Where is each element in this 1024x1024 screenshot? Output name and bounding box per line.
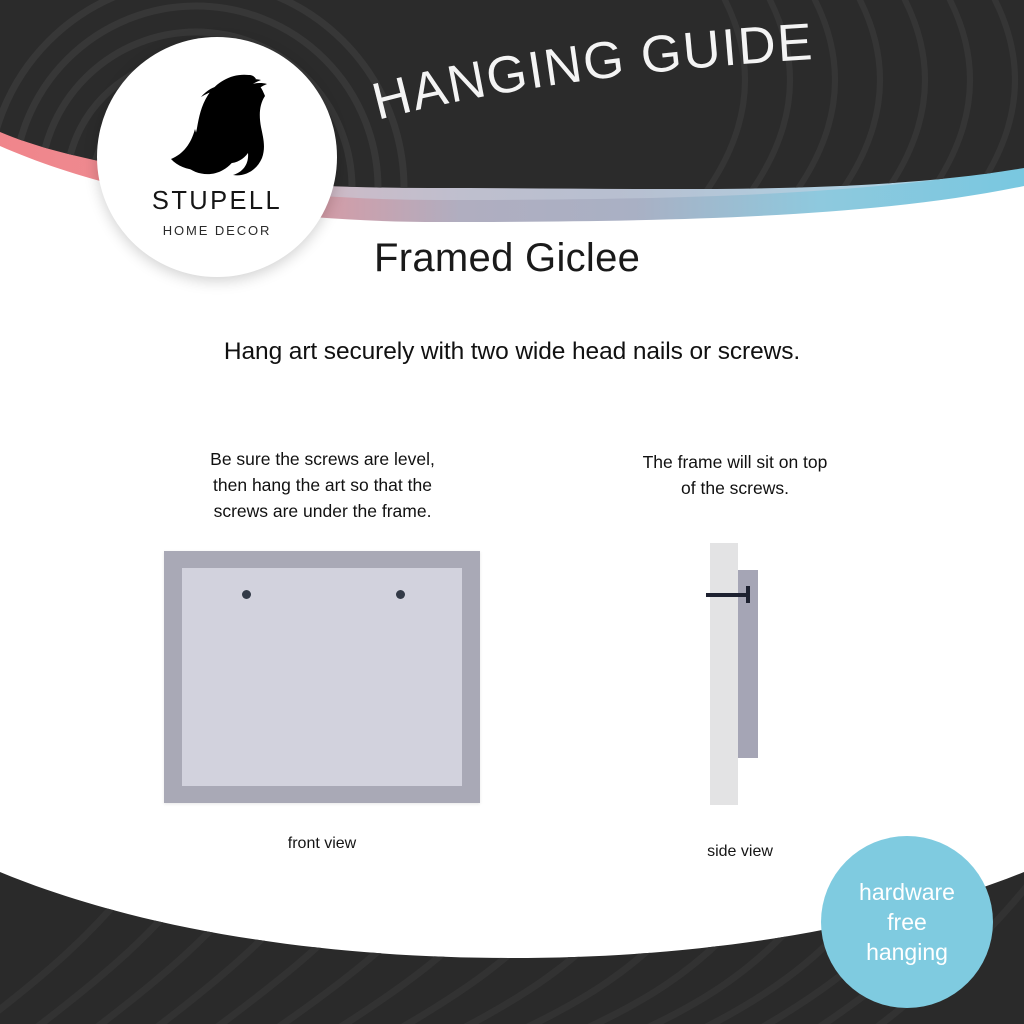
nail-icon [706,593,750,597]
page-title: HANGING GUIDE [372,42,892,134]
screw-dot-right-icon [396,590,405,599]
front-view-caption-line-3: screws are under the frame. [140,498,505,524]
brand-subwordmark: HOME DECOR [163,224,272,237]
hardware-free-hanging-badge: hardware free hanging [821,836,993,1008]
badge-line-1: hardware [859,877,955,907]
hanging-guide-page: STUPELL HOME DECOR HANGING GUIDE Framed … [0,0,1024,1024]
front-view-caption-line-2: then hang the art so that the [140,472,505,498]
page-title-text: HANGING GUIDE [367,13,816,131]
main-instruction-text: Hang art securely with two wide head nai… [0,338,1024,366]
side-view-caption: The frame will sit on top of the screws. [600,449,870,501]
screw-dot-left-icon [242,590,251,599]
side-view-wall [710,543,738,805]
front-view-caption-line-1: Be sure the screws are level, [140,446,505,472]
badge-line-3: hanging [866,937,948,967]
side-view-label: side view [660,843,820,861]
front-view-label: front view [164,835,480,853]
stupell-swirl-logo-icon [161,59,273,183]
brand-logo-badge: STUPELL HOME DECOR [97,37,337,277]
front-view-frame-diagram [164,551,480,803]
front-view-mat [182,568,462,786]
product-type-heading: Framed Giclee [374,238,640,278]
badge-line-2: free [887,907,927,937]
svg-text:HANGING GUIDE: HANGING GUIDE [367,13,816,131]
side-view-caption-line-2: of the screws. [600,475,870,501]
side-view-caption-line-1: The frame will sit on top [600,449,870,475]
side-view-diagram [700,543,780,805]
front-view-caption: Be sure the screws are level, then hang … [140,446,505,524]
nail-head-icon [746,586,750,603]
brand-wordmark: STUPELL [152,189,282,215]
